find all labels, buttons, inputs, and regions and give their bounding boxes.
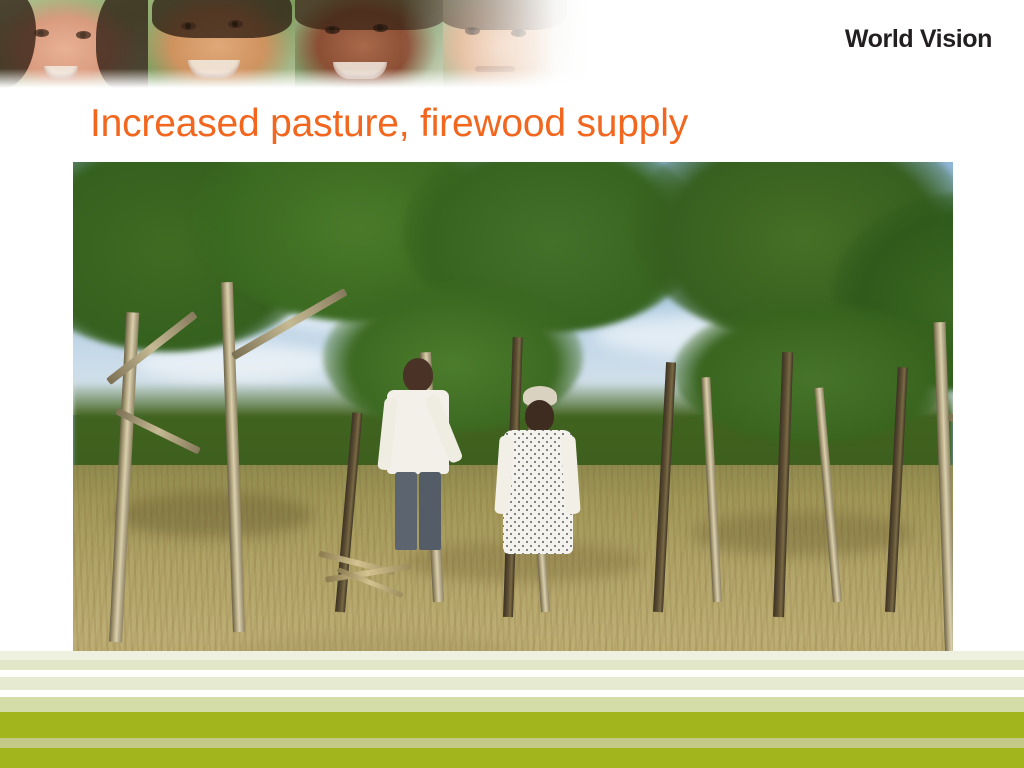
header-children-banner — [0, 0, 590, 88]
slide-title: Increased pasture, firewood supply — [90, 104, 688, 145]
woman-head — [525, 400, 554, 432]
main-photograph — [73, 162, 953, 712]
woman-in-patterned-dress — [497, 390, 579, 556]
brand-wordmark: World Vision — [845, 25, 992, 54]
children-photo-strip — [0, 0, 590, 88]
footer-band-pale-3 — [0, 677, 1024, 690]
footer-band-white-2 — [0, 690, 1024, 697]
child-2-hair — [152, 0, 292, 38]
brand-corner: World Vision — [724, 0, 1024, 84]
child-4-eye-left — [465, 27, 480, 35]
canopy-mid-low-right — [673, 302, 953, 442]
child-2-eye-left — [181, 22, 196, 30]
child-3-eye-right — [373, 24, 388, 32]
child-1-eye-left — [34, 29, 49, 37]
man-head — [403, 358, 433, 392]
child-3-mouth — [333, 62, 387, 79]
footer-band-white-1 — [0, 670, 1024, 677]
child-2-eye-right — [228, 20, 243, 28]
child-face-1 — [0, 0, 148, 88]
man-leg-right — [419, 472, 441, 550]
child-3-eye-left — [325, 26, 340, 34]
child-face-4 — [443, 0, 591, 88]
man-in-white-shirt — [379, 358, 457, 550]
footer-band-pale-2 — [0, 660, 1024, 670]
footer-band-green-top — [0, 712, 1024, 738]
footer-band-green-bottom — [0, 748, 1024, 768]
footer-band-pale-4 — [0, 697, 1024, 712]
man-leg-left — [395, 472, 417, 550]
child-4-hair — [443, 0, 567, 30]
child-4-eye-right — [511, 29, 526, 37]
ground-shadow-3 — [693, 512, 913, 556]
footer-band-light-green-mid — [0, 738, 1024, 748]
child-1-eye-right — [76, 31, 91, 39]
ground-shadow-1 — [113, 492, 313, 538]
child-3-hair — [295, 0, 443, 30]
child-1-hair-right — [96, 0, 148, 88]
child-face-2 — [148, 0, 296, 88]
presentation-slide: World Vision Increased pasture, firewood… — [0, 0, 1024, 768]
child-4-mouth — [475, 66, 515, 72]
child-face-3 — [295, 0, 443, 88]
footer-band-pale-1 — [0, 651, 1024, 660]
